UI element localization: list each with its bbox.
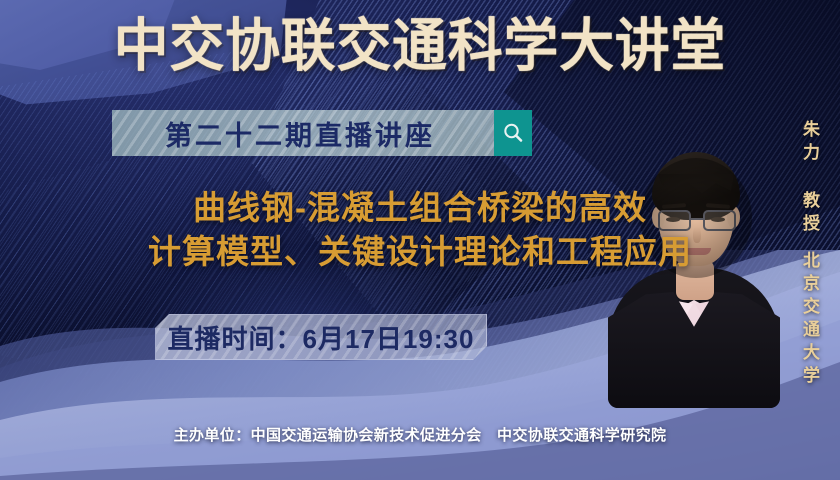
speaker-affiliation: 北京交通大学: [797, 251, 822, 389]
search-icon: [501, 121, 525, 145]
lecture-title-line2: 计算模型、关键设计理论和工程应用: [0, 230, 840, 274]
speaker-name: 朱力 教授: [797, 120, 822, 237]
speaker-credits: 朱力 教授 北京交通大学: [797, 96, 822, 389]
broadcast-time-label: 直播时间：6月17日19:30: [168, 319, 475, 356]
organizers-footer: 主办单位：中国交通运输协会新技术促进分会 中交协联交通科学研究院: [0, 424, 840, 445]
search-button[interactable]: [494, 110, 532, 156]
page-title: 中交协联交通科学大讲堂: [17, 14, 823, 78]
broadcast-time-box: 直播时间：6月17日19:30: [155, 314, 487, 360]
series-badge-bar: 第二十二期直播讲座: [112, 110, 532, 156]
lecture-title-line1: 曲线钢-混凝土组合桥梁的高效: [193, 189, 647, 226]
lecture-title: 曲线钢-混凝土组合桥梁的高效 计算模型、关键设计理论和工程应用: [0, 186, 840, 274]
series-badge-label: 第二十二期直播讲座: [112, 110, 494, 156]
webinar-poster: 中交协联交通科学大讲堂 第二十二期直播讲座 曲线钢-混凝土组合桥梁的高效 计算模…: [0, 0, 840, 480]
